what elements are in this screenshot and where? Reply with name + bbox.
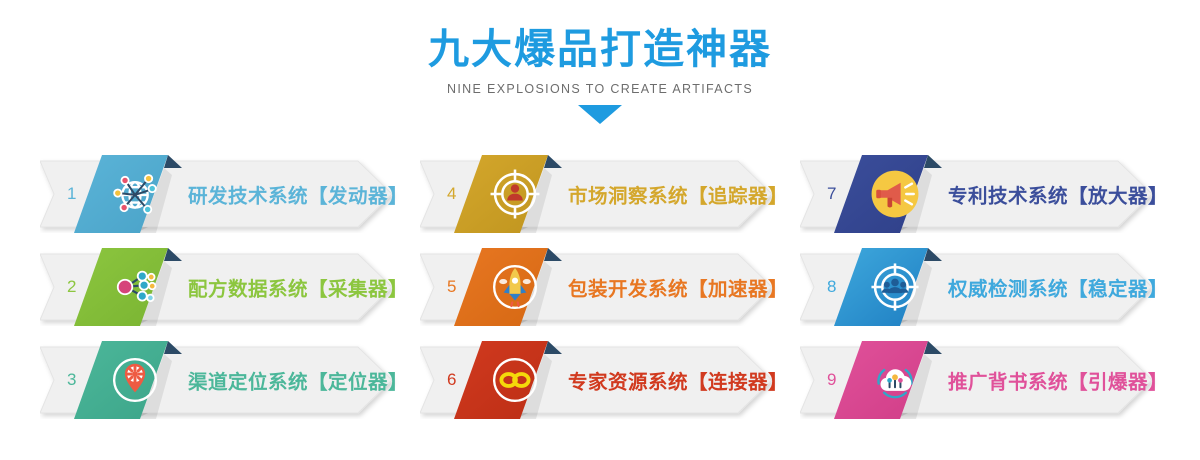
ribbon-number: 7 <box>827 184 836 204</box>
page-header: 九大爆品打造神器 NINE EXPLOSIONS TO CREATE ARTIF… <box>0 0 1200 124</box>
triangle-down-icon <box>578 105 622 124</box>
target-group-icon <box>862 256 928 318</box>
ribbon-number: 9 <box>827 370 836 390</box>
ribbon-item-6[interactable]: 6 专家资源系统【连接器】 <box>420 341 788 419</box>
ribbon-item-9[interactable]: 9 推广背书系统【引爆器】 <box>800 341 1168 419</box>
ribbon-label: 专利技术系统【放大器】 <box>948 180 1168 209</box>
ribbon-item-5[interactable]: 5 包装开发系统【加速器】 <box>420 248 788 326</box>
ribbon-number: 1 <box>67 184 76 204</box>
ribbon-label: 推广背书系统【引爆器】 <box>948 366 1168 395</box>
ribbon-label: 包装开发系统【加速器】 <box>568 273 788 302</box>
ribbon-label: 渠道定位系统【定位器】 <box>188 366 408 395</box>
globe-network-icon <box>102 163 168 225</box>
ribbon-label: 配方数据系统【采集器】 <box>188 273 408 302</box>
megaphone-icon <box>862 163 928 225</box>
ribbon-number: 3 <box>67 370 76 390</box>
ribbon-item-1[interactable]: 1 <box>40 155 408 233</box>
page-subtitle: NINE EXPLOSIONS TO CREATE ARTIFACTS <box>0 82 1200 96</box>
ribbon-item-3[interactable]: 3 渠道定位系统【定位器】 <box>40 341 408 419</box>
ribbon-number: 2 <box>67 277 76 297</box>
ribbon-label: 专家资源系统【连接器】 <box>568 366 788 395</box>
ribbon-label: 研发技术系统【发动器】 <box>188 180 408 209</box>
ribbon-number: 6 <box>447 370 456 390</box>
ribbon-item-4[interactable]: 4 市场洞察系统【追踪器】 <box>420 155 788 233</box>
ribbon-item-8[interactable]: 8 权威检测系统【稳定器】 <box>800 248 1168 326</box>
chain-link-icon <box>482 349 548 411</box>
cloud-growth-icon <box>862 349 928 411</box>
ribbon-number: 4 <box>447 184 456 204</box>
ribbon-number: 8 <box>827 277 836 297</box>
ribbon-label: 市场洞察系统【追踪器】 <box>568 180 788 209</box>
ribbon-label: 权威检测系统【稳定器】 <box>948 273 1168 302</box>
ribbon-grid: 1 <box>0 152 1200 442</box>
node-network-icon <box>102 256 168 318</box>
ribbon-number: 5 <box>447 277 456 297</box>
page-title: 九大爆品打造神器 <box>0 26 1200 73</box>
ribbon-item-7[interactable]: 7 专利技术系统【放大器】 <box>800 155 1168 233</box>
target-person-icon <box>482 163 548 225</box>
rocket-icon <box>482 256 548 318</box>
map-pin-gear-icon <box>102 349 168 411</box>
ribbon-item-2[interactable]: 2 配方数据系统【采集器】 <box>40 248 408 326</box>
